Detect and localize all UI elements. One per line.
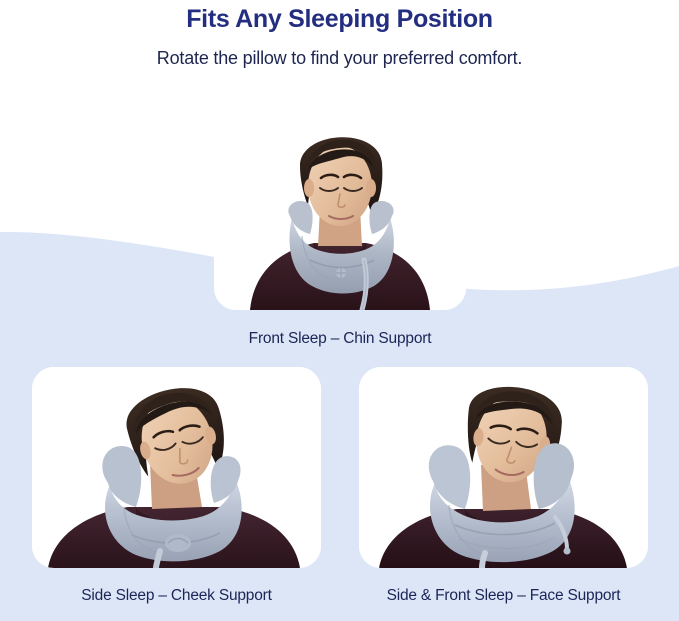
caption-side-front-sleep: Side & Front Sleep – Face Support [359, 587, 648, 606]
caption-side-sleep: Side Sleep – Cheek Support [32, 587, 321, 606]
product-feature-panel: Fits Any Sleeping Position Rotate the pi… [0, 0, 679, 621]
side-front-sleep-photo [359, 367, 648, 568]
photo-card-front-sleep[interactable] [214, 110, 466, 310]
front-sleep-photo [214, 110, 466, 310]
page-title: Fits Any Sleeping Position [0, 0, 679, 34]
photo-card-side-front-sleep[interactable] [359, 367, 648, 568]
page-subtitle: Rotate the pillow to find your preferred… [0, 34, 679, 70]
heading-block: Fits Any Sleeping Position Rotate the pi… [0, 0, 679, 70]
caption-front-sleep: Front Sleep – Chin Support [190, 330, 490, 349]
photo-card-side-sleep[interactable] [32, 367, 321, 568]
side-sleep-photo [32, 367, 321, 568]
